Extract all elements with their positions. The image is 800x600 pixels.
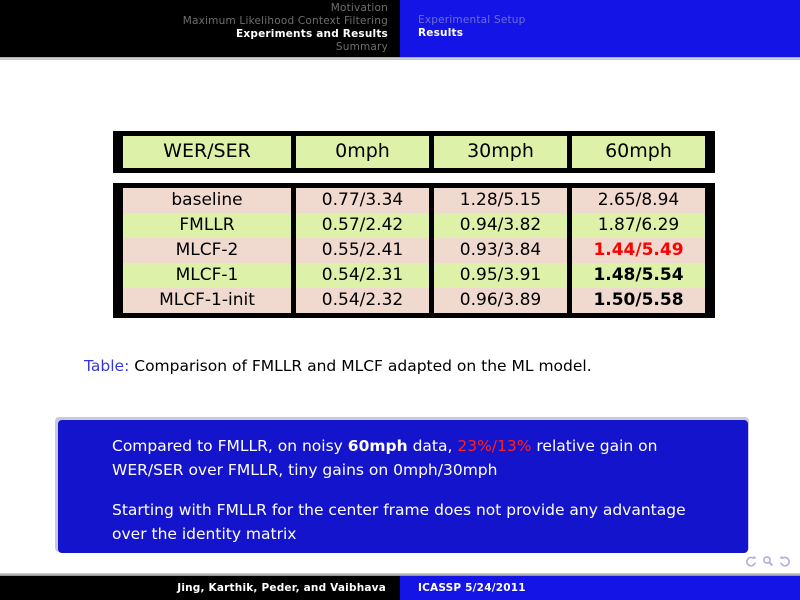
callout-bullet: Starting with FMLLR for the center frame…	[112, 498, 722, 546]
footer-venue-section: ICASSP 5/24/2011	[400, 576, 800, 600]
nav-section-item-1[interactable]: Maximum Likelihood Context Filtering	[183, 15, 388, 28]
table-cell-value: 1.87/6.29	[572, 213, 705, 238]
text-phrase: data,	[408, 437, 458, 455]
table-body-frame: baseline0.77/3.341.28/5.152.65/8.94FMLLR…	[113, 183, 715, 318]
table-cell-value: 1.48/5.54	[572, 263, 705, 288]
table-cell-value: 0.54/2.31	[296, 263, 429, 288]
footer-authors: Jing, Karthik, Peder, and Vaibhava	[177, 582, 386, 594]
text-phrase: Compared to FMLLR, on noisy	[112, 437, 348, 455]
footer-bar: Jing, Karthik, Peder, and Vaibhava ICASS…	[0, 576, 800, 600]
table-cell-value: 0.95/3.91	[434, 263, 567, 288]
bold-value: 1.50/5.58	[593, 290, 683, 310]
bold-value: 1.48/5.54	[593, 265, 683, 285]
table-cell-value: 2.65/8.94	[572, 188, 705, 213]
highlighted-value: 1.44/5.49	[593, 240, 683, 260]
table-cell-value: 0.77/3.34	[296, 188, 429, 213]
nav-section-item-2[interactable]: Experiments and Results	[236, 28, 388, 41]
slide-canvas: MotivationMaximum Likelihood Context Fil…	[0, 0, 800, 600]
bold-phrase: 60mph	[348, 437, 408, 455]
table-row: baseline0.77/3.341.28/5.152.65/8.94	[123, 188, 705, 213]
table-cell-value: 0.94/3.82	[434, 213, 567, 238]
next-slide-icon[interactable]	[778, 555, 792, 568]
table-cell-value: 0.54/2.32	[296, 288, 429, 313]
table-row-label: MLCF-2	[123, 238, 291, 263]
navigation-header: MotivationMaximum Likelihood Context Fil…	[0, 0, 800, 57]
table-column-header: 0mph	[296, 136, 429, 168]
nav-section-item-3[interactable]: Summary	[336, 41, 388, 54]
search-icon[interactable]	[762, 555, 774, 568]
footer-authors-section: Jing, Karthik, Peder, and Vaibhava	[0, 576, 400, 600]
prev-slide-icon[interactable]	[744, 555, 758, 568]
table-column-header: 60mph	[572, 136, 705, 168]
nav-section-item-0[interactable]: Motivation	[331, 2, 388, 15]
table-column-header: WER/SER	[123, 136, 291, 168]
table-cell-value: 0.93/3.84	[434, 238, 567, 263]
table-cell-value: 0.55/2.41	[296, 238, 429, 263]
results-table: WER/SER0mph30mph60mph baseline0.77/3.341…	[113, 131, 715, 322]
table-cell-value: 1.50/5.58	[572, 288, 705, 313]
table-header-row: WER/SER0mph30mph60mph	[123, 136, 705, 168]
table-row-label: baseline	[123, 188, 291, 213]
table-row: MLCF-20.55/2.410.93/3.841.44/5.49	[123, 238, 705, 263]
nav-subsection-item-1[interactable]: Results	[418, 27, 463, 40]
footer-venue: ICASSP 5/24/2011	[418, 582, 526, 594]
table-row: FMLLR0.57/2.420.94/3.821.87/6.29	[123, 213, 705, 238]
callout-bullet: Compared to FMLLR, on noisy 60mph data, …	[112, 434, 722, 482]
section-nav-left: MotivationMaximum Likelihood Context Fil…	[0, 0, 400, 57]
table-row: MLCF-10.54/2.310.95/3.911.48/5.54	[123, 263, 705, 288]
highlighted-phrase: 23%/13%	[457, 437, 531, 455]
caption-text: Comparison of FMLLR and MLCF adapted on …	[134, 357, 591, 375]
table-caption: Table: Comparison of FMLLR and MLCF adap…	[84, 357, 724, 375]
table-cell-value: 1.28/5.15	[434, 188, 567, 213]
table-header-row-group: WER/SER0mph30mph60mph	[118, 136, 710, 168]
table-row-label: FMLLR	[123, 213, 291, 238]
table-cell-value: 0.57/2.42	[296, 213, 429, 238]
subsection-nav-right: Experimental SetupResults	[400, 0, 800, 57]
findings-callout-box: Compared to FMLLR, on noisy 60mph data, …	[58, 420, 748, 553]
table-row-label: MLCF-1	[123, 263, 291, 288]
table-row-label: MLCF-1-init	[123, 288, 291, 313]
table-body-row-group: baseline0.77/3.341.28/5.152.65/8.94FMLLR…	[118, 188, 710, 313]
table-column-header: 30mph	[434, 136, 567, 168]
table-cell-value: 1.44/5.49	[572, 238, 705, 263]
text-phrase: Starting with FMLLR for the center frame…	[112, 501, 686, 543]
nav-subsection-item-0[interactable]: Experimental Setup	[418, 14, 526, 27]
table-header-frame: WER/SER0mph30mph60mph	[113, 131, 715, 173]
beamer-nav-symbols[interactable]	[744, 555, 792, 568]
caption-label: Table:	[84, 357, 129, 375]
header-divider-shadow	[0, 57, 800, 59]
table-cell-value: 0.96/3.89	[434, 288, 567, 313]
table-row: MLCF-1-init0.54/2.320.96/3.891.50/5.58	[123, 288, 705, 313]
